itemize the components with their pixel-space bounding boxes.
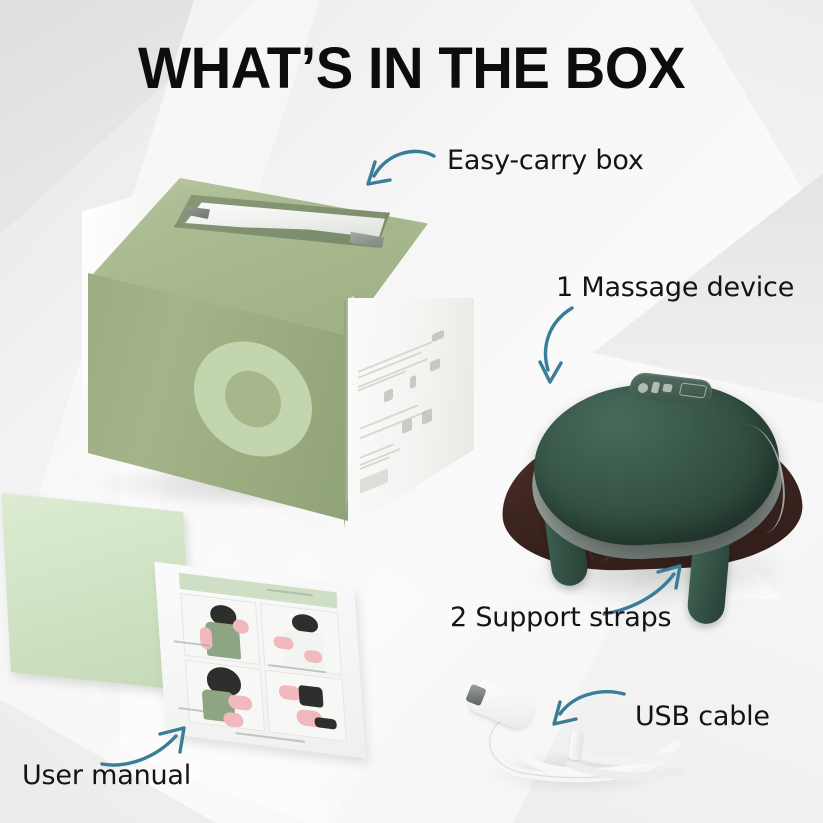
product-massage-device (492, 362, 822, 622)
callout-label-user-manual: User manual (22, 760, 191, 791)
product-instruction-sheet (154, 562, 365, 759)
mode-icon (662, 384, 673, 393)
instruction-panel-4 (265, 670, 347, 742)
infographic-canvas: WHAT’S IN THE BOX (0, 0, 823, 823)
callout-label-easy-carry-box: Easy-carry box (447, 145, 644, 176)
instruction-panel-1 (180, 593, 260, 665)
device-seam-wire (720, 422, 788, 536)
page-title: WHAT’S IN THE BOX (12, 40, 810, 98)
instruction-panel-3 (185, 660, 265, 732)
callout-label-usb-cable: USB cable (635, 701, 770, 732)
callout-label-massage-device: 1 Massage device (556, 272, 794, 303)
callout-label-support-straps: 2 Support straps (450, 602, 671, 633)
product-carry-box (82, 178, 482, 528)
